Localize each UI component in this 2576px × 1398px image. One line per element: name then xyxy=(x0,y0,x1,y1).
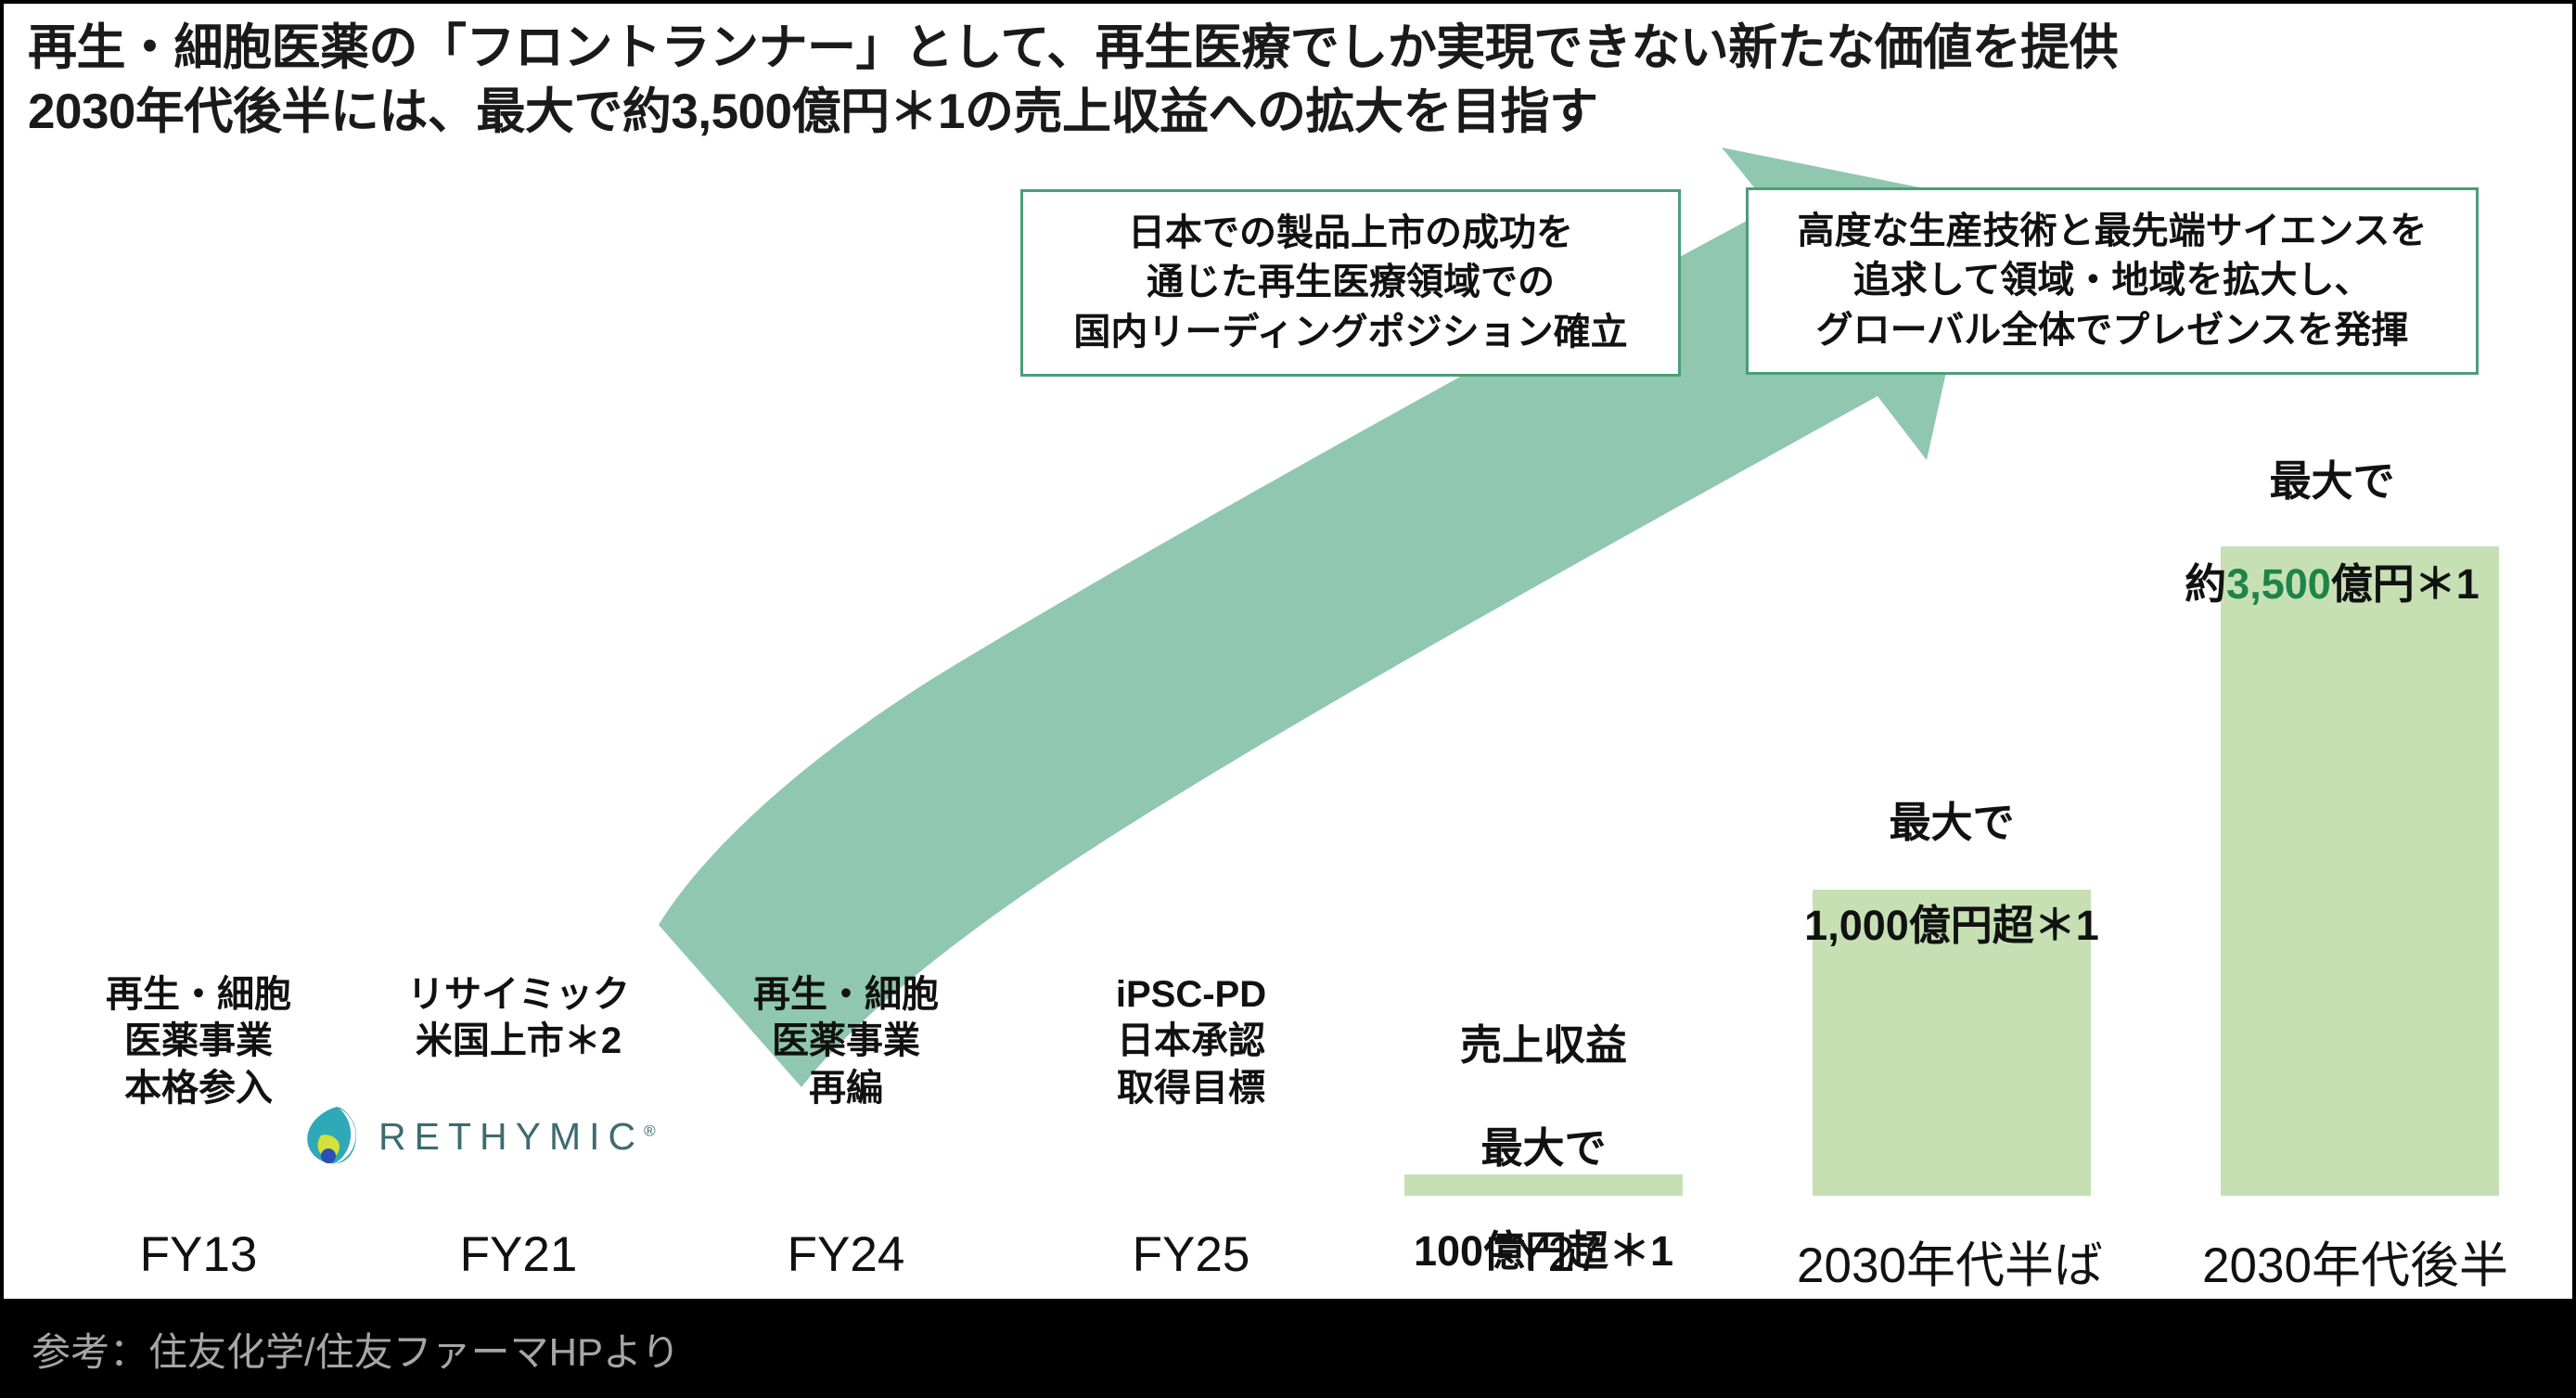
callout-box-domestic-leading-position: 日本での製品上市の成功を 通じた再生医療領域での 国内リーディングポジション確立 xyxy=(1020,189,1681,377)
value-label-late-suffix: 億円＊1 xyxy=(2331,560,2480,608)
axis-label-mid-2030s: 2030年代半ば xyxy=(1709,1226,2191,1297)
footer-source-text: 参考：住友化学/住友ファーマHPより xyxy=(32,1321,680,1378)
value-label-late-2030s: 最大で 約3,500億円＊1 xyxy=(2100,404,2564,661)
value-label-late-line2: 約3,500億円＊1 xyxy=(2100,558,2564,609)
value-label-fy27-line1: 売上収益 xyxy=(1321,1020,1766,1071)
axis-label-fy24: FY24 xyxy=(679,1226,1013,1283)
rethymic-wordmark: RETHYMIC® xyxy=(378,1115,656,1159)
slide: 再生・細胞医薬の「フロントランナー」として、再生医療でしか実現できない新たな価値… xyxy=(0,0,2576,1398)
axis-label-fy21: FY21 xyxy=(352,1226,686,1283)
milestone-fy13: 再生・細胞 医薬事業 本格参入 xyxy=(32,971,365,1111)
value-label-mid-2030s: 最大で 1,000億円超＊1 xyxy=(1711,746,2193,1003)
callout-box-global-presence: 高度な生産技術と最先端サイエンスを 追求して領域・地域を拡大し、 グローバル全体… xyxy=(1746,187,2479,375)
value-label-late-accent: 3,500 xyxy=(2226,560,2331,608)
footer-bar: 参考：住友化学/住友ファーマHPより xyxy=(4,1299,2576,1394)
registered-trademark-icon: ® xyxy=(644,1122,656,1139)
value-label-mid-line1: 最大で xyxy=(1711,797,2193,848)
axis-label-fy25: FY25 xyxy=(1024,1226,1358,1283)
value-label-late-line1: 最大で xyxy=(2100,455,2564,507)
milestone-fy25: iPSC-PD 日本承認 取得目標 xyxy=(1024,971,1358,1111)
milestone-fy21: リサイミック 米国上市＊2 xyxy=(352,971,686,1065)
milestone-fy24: 再生・細胞 医薬事業 再編 xyxy=(679,971,1013,1111)
axis-label-fy13: FY13 xyxy=(32,1226,365,1283)
page-title: 再生・細胞医薬の「フロントランナー」として、再生医療でしか実現できない新たな価値… xyxy=(28,17,2347,145)
value-label-fy27-line2: 最大で xyxy=(1321,1122,1766,1174)
axis-label-fy27: FY27 xyxy=(1377,1226,1711,1283)
value-label-late-prefix: 約 xyxy=(2185,560,2226,608)
callout-2-text: 高度な生産技術と最先端サイエンスを 追求して領域・地域を拡大し、 グローバル全体… xyxy=(1798,207,2428,355)
callout-1-text: 日本での製品上市の成功を 通じた再生医療領域での 国内リーディングポジション確立 xyxy=(1073,209,1627,357)
value-label-mid-line2: 1,000億円超＊1 xyxy=(1711,900,2193,951)
rethymic-logo: RETHYMIC® xyxy=(299,1101,707,1172)
rethymic-leaf-icon xyxy=(299,1102,367,1171)
rethymic-wordmark-text: RETHYMIC xyxy=(378,1115,644,1158)
axis-label-late-2030s: 2030年代後半 xyxy=(2137,1226,2573,1297)
